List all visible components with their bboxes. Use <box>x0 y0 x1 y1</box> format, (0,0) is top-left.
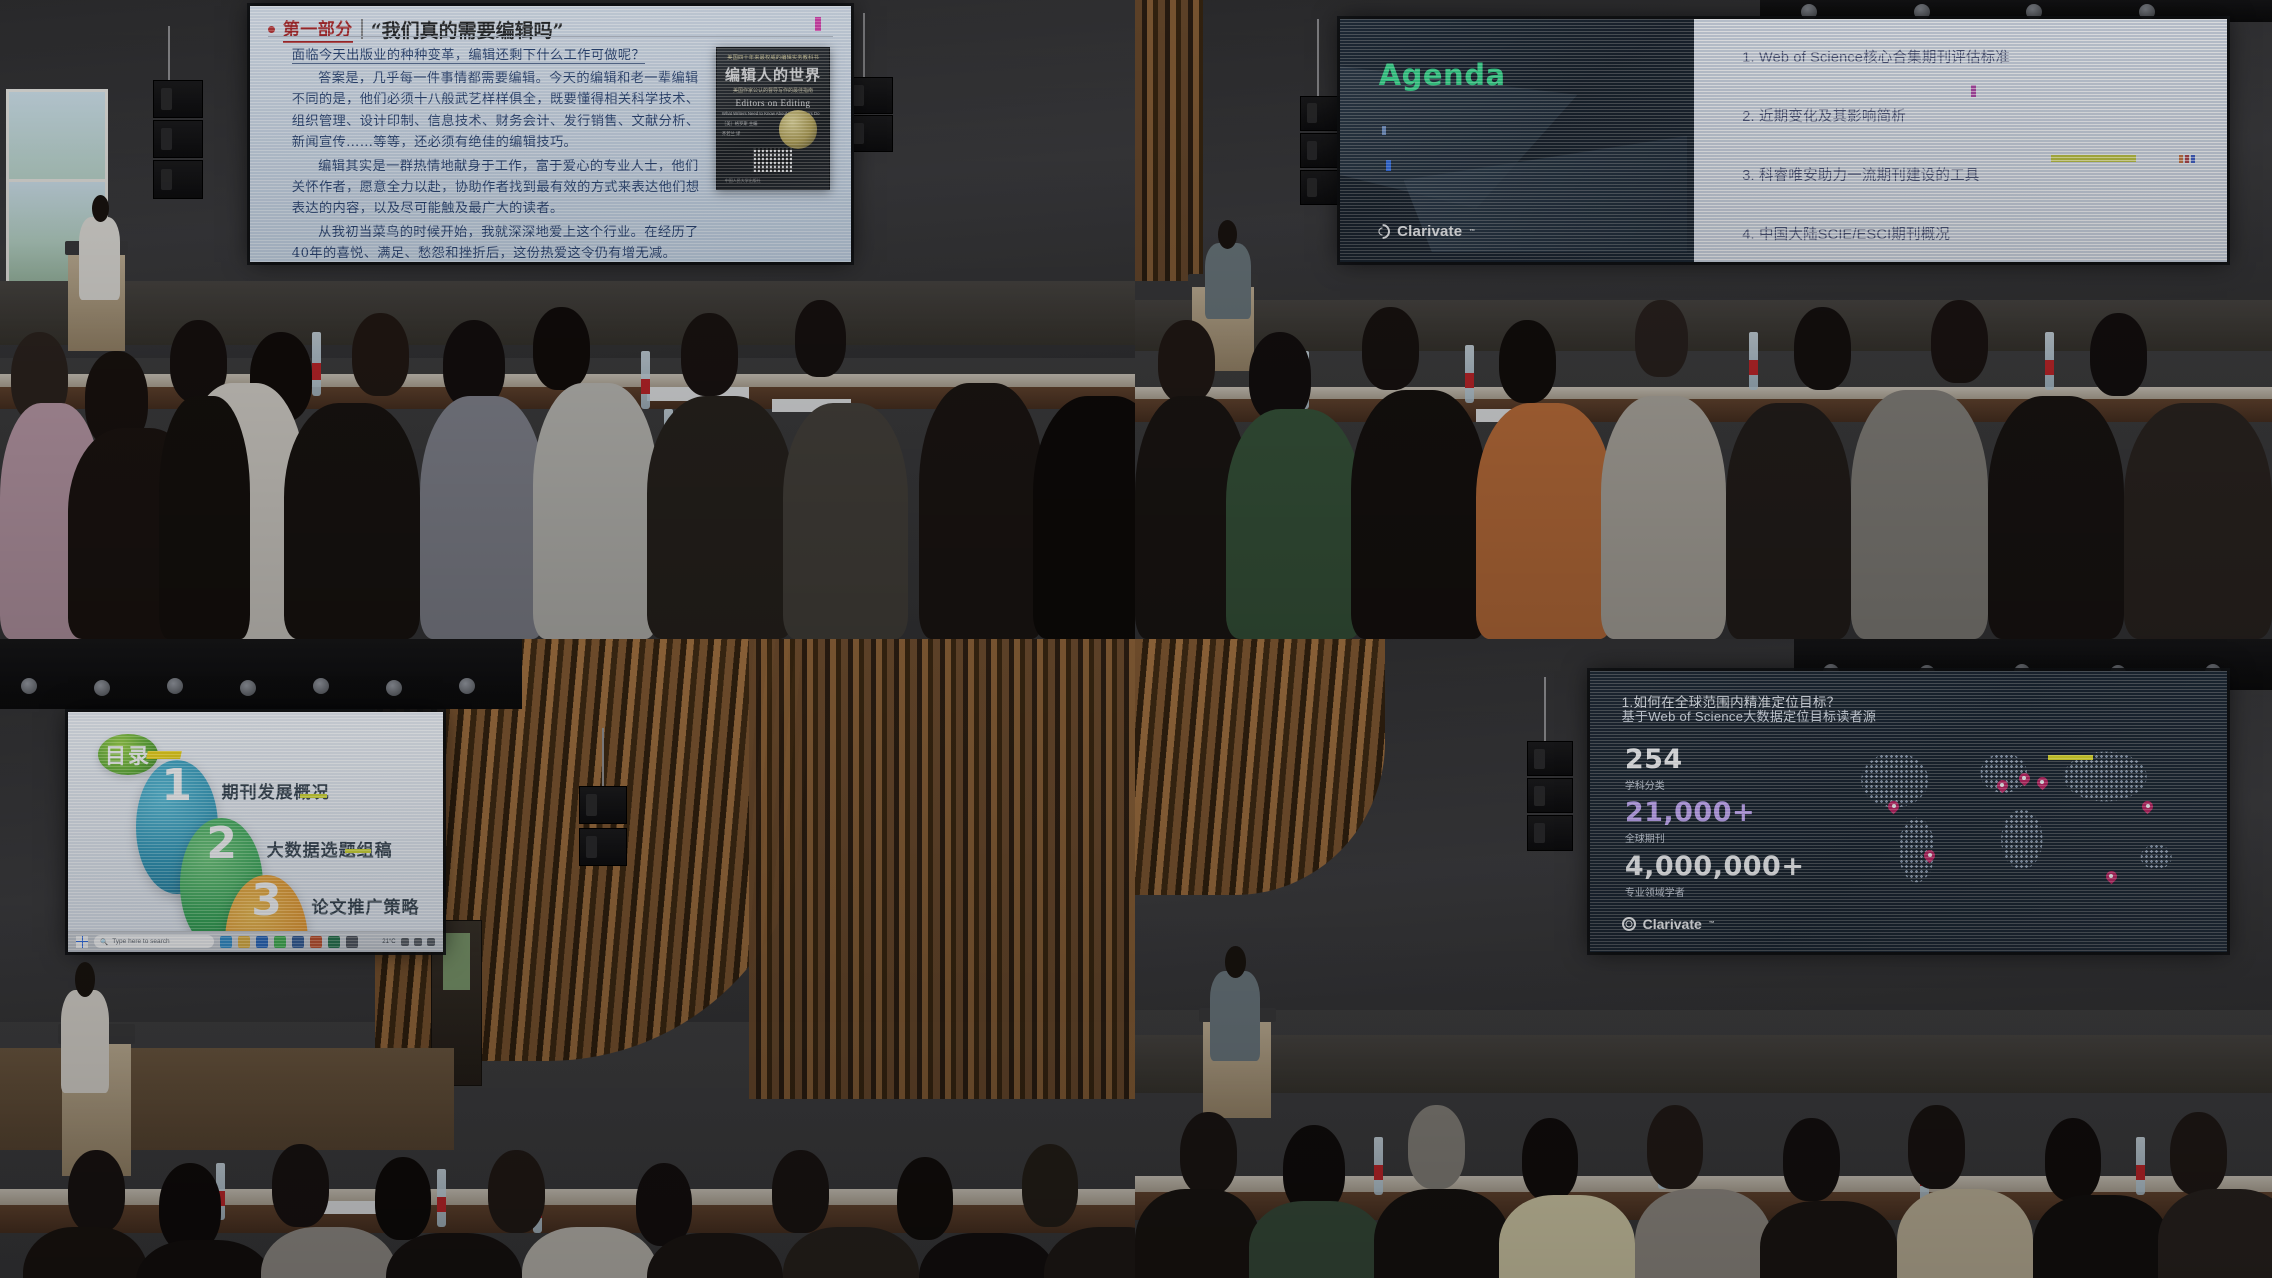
book-barcode <box>754 148 792 173</box>
search-placeholder: Type here to search <box>112 938 169 945</box>
search-icon: 🔍 <box>100 938 108 946</box>
decor-tick-2 <box>345 849 371 853</box>
world-map-graphic <box>1844 724 2207 898</box>
decor-color-chips <box>2179 155 2195 163</box>
map-pin <box>2142 801 2153 812</box>
speaker-box-tl-2 <box>153 120 203 158</box>
audience-body <box>2033 1195 2169 1278</box>
water-bottle-tr-3 <box>1749 332 1758 390</box>
trademark-symbol: ™ <box>1469 229 1475 235</box>
audience-body <box>647 396 795 639</box>
speaker-truss-tl-right <box>863 13 865 77</box>
audience-body <box>1351 390 1487 639</box>
contents-label-3: 论文推广策略 <box>312 893 420 918</box>
slide1-para-1: 面临今天出版业的种种变革，编辑还剩下什么工作可做呢？ <box>292 48 645 64</box>
water-bottle-tl-2 <box>641 351 650 409</box>
presenter-head-bl <box>75 962 95 997</box>
audience-head <box>795 300 846 377</box>
speaker-truss-tl <box>168 26 170 84</box>
slide1-para-3: 编辑其实是一群热情地献身于工作，富于爱心的专业人士，他们关怀作者，愿意全力以赴，… <box>292 159 700 217</box>
audience-body <box>420 396 545 639</box>
taskbar-icon-browser[interactable] <box>346 936 358 948</box>
speaker-box-br-1 <box>1527 741 1572 776</box>
audience-head <box>1794 307 1851 390</box>
audience-head <box>1158 320 1215 403</box>
presenter-head-tl <box>92 195 109 222</box>
windows-taskbar[interactable]: 🔍 Type here to search 21°C <box>68 931 443 953</box>
audience-head <box>1647 1105 1704 1188</box>
decor-blue-mark <box>1382 126 1386 135</box>
projection-screen-bl: 目录 1 2 3 期刊发展概况 大数据选题组稿 论文推广策略 🔍 Type he <box>68 712 443 952</box>
speaker-truss-bl <box>602 728 604 786</box>
floor-br <box>1135 1035 2272 1093</box>
agenda-item-3: 3. 科睿唯安助力一流期刊建设的工具 <box>1742 164 2205 185</box>
agenda-list: 1. Web of Science核心合集期刊评估标准 2. 近期变化及其影响简… <box>1742 46 2205 262</box>
taskbar-icon-wechat[interactable] <box>274 936 286 948</box>
clarivate-logo-tr: Clarivate ™ <box>1375 223 1475 240</box>
clarivate-wordmark: Clarivate <box>1643 916 1702 932</box>
contents-number-2: 2 <box>206 818 237 869</box>
door-window-bl <box>443 933 470 991</box>
audience-head <box>1783 1118 1840 1201</box>
clarivate-mark-icon <box>1622 917 1636 931</box>
map-pin <box>1888 801 1899 812</box>
map-pin <box>1924 850 1935 861</box>
speaker-box-br-3 <box>1527 815 1572 850</box>
audience-head <box>1499 320 1556 403</box>
audience-body <box>533 383 658 639</box>
taskbar-icon-mail[interactable] <box>256 936 268 948</box>
weather-temperature: 21°C <box>382 939 395 945</box>
audience-body <box>159 396 250 639</box>
audience-head <box>375 1157 432 1240</box>
audience-head <box>772 1150 829 1233</box>
clarivate-wordmark: Clarivate <box>1397 223 1462 240</box>
audience-body <box>284 403 420 639</box>
decor-yellow-highlight-br <box>2048 755 2093 760</box>
stat-label-3: 专业领域学者 <box>1625 884 1805 899</box>
network-icon[interactable] <box>401 938 409 946</box>
agenda-item-2: 2. 近期变化及其影响简析 <box>1742 105 2205 126</box>
taskbar-icon-excel[interactable] <box>328 936 340 948</box>
stat-value-2: 21,000+ <box>1625 797 1755 828</box>
audience-body <box>1476 403 1612 639</box>
water-bottle-tr-2 <box>1465 345 1474 403</box>
audience-body <box>2158 1189 2272 1278</box>
globe-graphic-icon <box>779 110 817 148</box>
agenda-item-1: 1. Web of Science核心合集期刊评估标准 <box>1742 46 2205 67</box>
audience-head <box>1522 1118 1579 1201</box>
slide1-part-label: 第一部分 <box>283 15 353 43</box>
contents-label-1: 期刊发展概况 <box>222 778 330 803</box>
audience-head <box>1931 300 1988 383</box>
photo-bottom-left: 目录 1 2 3 期刊发展概况 大数据选题组稿 论文推广策略 🔍 Type he <box>0 639 1135 1278</box>
slide4-subtitle: 基于Web of Science大数据定位目标读者源 <box>1622 706 1877 725</box>
book-publisher: 中国人民大学出版社 <box>725 178 761 184</box>
audience-body <box>1135 1189 1260 1278</box>
speaker-box-br-2 <box>1527 778 1572 813</box>
speaker-truss-br <box>1544 677 1546 741</box>
audience-head <box>488 1150 545 1233</box>
audience-body <box>1760 1201 1896 1278</box>
stat-value-3: 4,000,000+ <box>1625 851 1805 882</box>
slide1-para-4: 从我初当菜鸟的时候开始，我就深深地爱上这个行业。在经历了40年的喜悦、满足、愁怨… <box>292 225 699 261</box>
audience-body <box>2124 403 2272 639</box>
speaker-box-bl-2 <box>579 828 627 866</box>
contents-number-3: 3 <box>251 875 282 926</box>
book-english-title: Editors on Editing <box>722 98 824 108</box>
slide1-header: 第一部分 “我们真的需要编辑吗” <box>268 15 564 43</box>
agenda-item-4: 4. 中国大陆SCIE/ESCI期刊概况 <box>1742 223 2205 244</box>
wood-wall-slats-bl <box>749 639 1135 1099</box>
audience-head <box>68 1150 125 1233</box>
taskbar-icon-powerpoint[interactable] <box>310 936 322 948</box>
audience-body <box>1851 390 1987 639</box>
speaker-box-tl-5 <box>846 115 894 152</box>
audience-head <box>897 1157 954 1240</box>
taskbar-icon-edge[interactable] <box>220 936 232 948</box>
audience-body <box>1988 396 2124 639</box>
agenda-left-panel: Agenda Clarivate ™ <box>1340 19 1695 262</box>
book-cover-image: 美国四十年来最权威的编辑实务教科书 编辑人的世界 美国作家公认的督导写作的最佳指… <box>716 47 830 190</box>
water-bottle-br-4 <box>2136 1137 2145 1195</box>
stat-label-1: 学科分类 <box>1625 777 1683 792</box>
audience-body <box>1374 1189 1510 1278</box>
audience-body <box>1499 1195 1635 1278</box>
audience-head <box>1180 1112 1237 1195</box>
projection-screen-br: 1.如何在全球范围内精准定位目标？ 基于Web of Science大数据定位目… <box>1590 671 2227 952</box>
presenter-body-bl <box>61 990 109 1092</box>
lighting-truss-bl <box>0 639 522 709</box>
water-bottle-br-1 <box>1374 1137 1383 1195</box>
audience-head <box>2090 313 2147 396</box>
slide1-para-2: 答案是，几乎每一件事情都需要编辑。今天的编辑和老一辈编辑不同的是，他们必须十八般… <box>292 71 700 150</box>
audience-head <box>1022 1144 1079 1227</box>
map-pin <box>2106 871 2117 882</box>
audience-body <box>783 403 908 639</box>
contents-label-2: 大数据选题组稿 <box>267 836 393 861</box>
audience-body <box>1601 396 1726 639</box>
book-title: 编辑人的世界 <box>722 64 824 85</box>
projection-screen-tl: 第一部分 “我们真的需要编辑吗” 面临今天出版业的种种变革，编辑还剩下什么工作可… <box>250 6 852 262</box>
slide1-body: 面临今天出版业的种种变革，编辑还剩下什么工作可做呢？ 答案是，几乎每一件事情都需… <box>292 45 701 262</box>
audience-head <box>533 307 590 390</box>
audience-head <box>1362 307 1419 390</box>
photo-collage: 第一部分 “我们真的需要编辑吗” 面临今天出版业的种种变革，编辑还剩下什么工作可… <box>0 0 2272 1278</box>
clarivate-logo-br: Clarivate ™ <box>1622 916 1715 932</box>
taskbar-icon-explorer[interactable] <box>238 936 250 948</box>
projection-screen-tr: Agenda Clarivate ™ 1. Web of Science核心合集… <box>1340 19 2227 262</box>
water-bottle-tr-4 <box>2045 332 2054 390</box>
audience-body <box>1226 409 1362 639</box>
presenter-head-br <box>1225 946 1247 978</box>
audience-head <box>2170 1112 2227 1195</box>
audience-head <box>272 1144 329 1227</box>
speaker-box-tr-2 <box>1300 133 1345 168</box>
stat-block-1: 254 学科分类 <box>1625 744 1683 792</box>
speaker-box-tl-4 <box>846 77 894 114</box>
speaker-box-tr-3 <box>1300 170 1345 205</box>
audience-body <box>1249 1201 1385 1278</box>
audience-head <box>2045 1118 2102 1201</box>
audience-body <box>1033 396 1135 639</box>
audience-head <box>636 1163 693 1246</box>
volume-icon[interactable] <box>414 938 422 946</box>
speaker-box-tr-1 <box>1300 96 1345 131</box>
speaker-box-bl-1 <box>579 786 627 824</box>
audience-head <box>352 313 409 396</box>
decor-magenta-mark <box>1971 85 1976 97</box>
taskbar-tray[interactable]: 21°C <box>382 938 434 946</box>
audience-body <box>1726 403 1851 639</box>
taskbar-icon-word[interactable] <box>292 936 304 948</box>
stat-block-2: 21,000+ 全球期刊 <box>1625 797 1755 845</box>
audience-head <box>1635 300 1687 377</box>
clarivate-mark-icon <box>1375 224 1390 239</box>
taskbar-search-input[interactable]: 🔍 Type here to search <box>94 935 214 948</box>
decor-yellow-highlight <box>2051 155 2136 162</box>
audience-head <box>1408 1105 1465 1188</box>
presenter-body-br <box>1210 971 1260 1060</box>
start-button-icon[interactable] <box>76 936 88 948</box>
speaker-box-tl-3 <box>153 160 203 198</box>
audience-head <box>681 313 738 396</box>
battery-icon[interactable] <box>427 938 435 946</box>
speaker-box-tl-1 <box>153 80 203 118</box>
wood-slats-tr <box>1135 0 1203 281</box>
photo-top-right: Agenda Clarivate ™ 1. Web of Science核心合集… <box>1135 0 2272 639</box>
audience-body <box>1635 1189 1771 1278</box>
photo-bottom-right: 1.如何在全球范围内精准定位目标？ 基于Web of Science大数据定位目… <box>1135 639 2272 1278</box>
photo-top-left: 第一部分 “我们真的需要编辑吗” 面临今天出版业的种种变革，编辑还剩下什么工作可… <box>0 0 1135 639</box>
water-bottle-bl-2 <box>437 1169 446 1227</box>
audience-body <box>1897 1189 2033 1278</box>
map-pin <box>2037 777 2048 788</box>
water-bottle-tl-1 <box>312 332 321 396</box>
stat-value-1: 254 <box>1625 744 1683 775</box>
speaker-truss-tr <box>1317 19 1319 96</box>
audience-body <box>919 383 1044 639</box>
contents-number-1: 1 <box>161 760 192 811</box>
decor-tick-1 <box>300 794 326 798</box>
book-subtitle: 美国作家公认的督导写作的最佳指南 <box>722 87 824 94</box>
audience-head <box>1908 1105 1965 1188</box>
slide1-rule <box>268 36 833 37</box>
map-pin <box>2019 773 2030 784</box>
book-top-line: 美国四十年来最权威的编辑实务教科书 <box>722 54 824 61</box>
map-pin <box>1997 780 2008 791</box>
slide1-title: “我们真的需要编辑吗” <box>371 16 564 43</box>
decor-blue-mark-2 <box>1386 160 1391 171</box>
decor-pink-mark <box>815 17 821 31</box>
presenter-body-tl <box>79 217 120 300</box>
agenda-right-panel: 1. Web of Science核心合集期刊评估标准 2. 近期变化及其影响简… <box>1694 19 2226 262</box>
trademark-symbol: ™ <box>1709 921 1715 927</box>
presenter-body-tr <box>1205 243 1250 320</box>
decor-yellow-dash <box>146 751 181 759</box>
stat-label-2: 全球期刊 <box>1625 830 1755 845</box>
stat-block-3: 4,000,000+ 专业领域学者 <box>1625 851 1805 899</box>
bullet-dot-icon <box>268 26 275 33</box>
agenda-heading: Agenda <box>1379 58 1506 92</box>
